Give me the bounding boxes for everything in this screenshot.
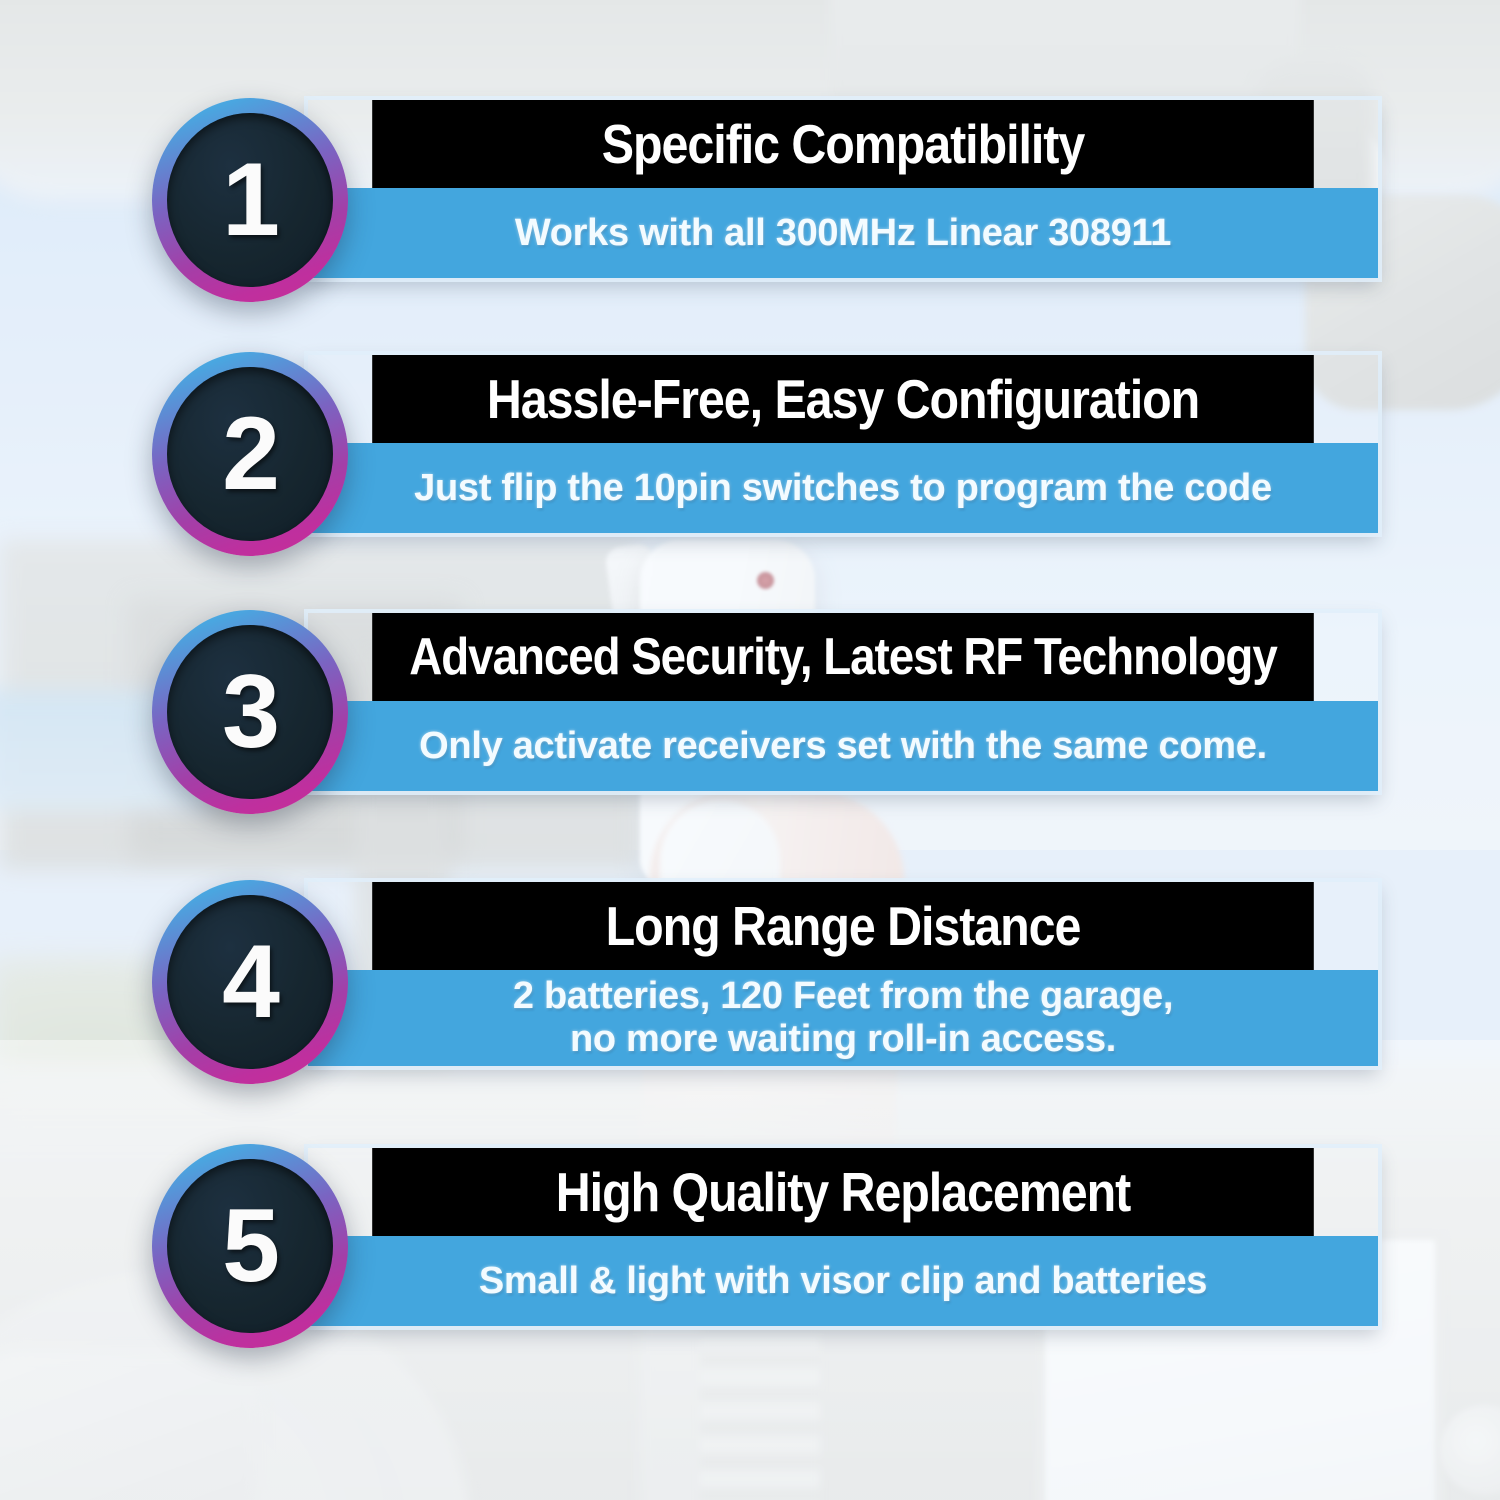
feature-badge-5: 5 — [152, 1144, 348, 1348]
feature-badge-2: 2 — [152, 352, 348, 556]
feature-title-bar-1: Specific Compatibility — [372, 100, 1314, 188]
feature-subtitle-bar-2: Just flip the 10pin switches to program … — [308, 443, 1378, 533]
feature-title-bar-5: High Quality Replacement — [372, 1148, 1314, 1236]
feature-subtitle-bar-3: Only activate receivers set with the sam… — [308, 701, 1378, 791]
infographic-canvas: 1 Specific Compatibility Works with all … — [0, 0, 1500, 1500]
feature-badge-inner-1: 1 — [167, 113, 333, 287]
feature-number-4: 4 — [222, 930, 278, 1034]
feature-list: 1 Specific Compatibility Works with all … — [0, 0, 1500, 1500]
feature-title-1: Specific Compatibility — [602, 112, 1084, 176]
feature-title-bar-4: Long Range Distance — [372, 882, 1314, 970]
feature-title-4: Long Range Distance — [606, 894, 1081, 958]
feature-bars-1: Specific Compatibility Works with all 30… — [308, 100, 1378, 278]
feature-title-bar-2: Hassle-Free, Easy Configuration — [372, 355, 1314, 443]
feature-bars-3: Advanced Security, Latest RF Technology … — [308, 613, 1378, 791]
feature-bars-2: Hassle-Free, Easy Configuration Just fli… — [308, 355, 1378, 533]
feature-subtitle-5: Small & light with visor clip and batter… — [479, 1260, 1207, 1303]
feature-subtitle-3: Only activate receivers set with the sam… — [419, 725, 1267, 768]
feature-title-5: High Quality Replacement — [556, 1160, 1130, 1224]
feature-title-bar-3: Advanced Security, Latest RF Technology — [372, 613, 1314, 701]
feature-badge-1: 1 — [152, 98, 348, 302]
feature-number-1: 1 — [222, 148, 278, 252]
feature-subtitle-bar-1: Works with all 300MHz Linear 308911 — [308, 188, 1378, 278]
feature-bars-4: Long Range Distance 2 batteries, 120 Fee… — [308, 882, 1378, 1066]
feature-badge-inner-2: 2 — [167, 367, 333, 541]
feature-subtitle-4-line-1: 2 batteries, 120 Feet from the garage, — [513, 975, 1173, 1018]
feature-title-2: Hassle-Free, Easy Configuration — [487, 367, 1199, 431]
feature-number-2: 2 — [222, 402, 278, 506]
feature-number-3: 3 — [222, 660, 278, 764]
feature-bars-5: High Quality Replacement Small & light w… — [308, 1148, 1378, 1326]
feature-badge-inner-4: 4 — [167, 895, 333, 1069]
feature-number-5: 5 — [222, 1194, 278, 1298]
feature-subtitle-1: Works with all 300MHz Linear 308911 — [515, 212, 1171, 255]
feature-subtitle-4-line-2: no more waiting roll-in access. — [570, 1018, 1116, 1061]
feature-subtitle-2: Just flip the 10pin switches to program … — [414, 467, 1272, 510]
feature-badge-4: 4 — [152, 880, 348, 1084]
feature-badge-3: 3 — [152, 610, 348, 814]
feature-title-3: Advanced Security, Latest RF Technology — [409, 627, 1276, 687]
feature-subtitle-bar-5: Small & light with visor clip and batter… — [308, 1236, 1378, 1326]
feature-badge-inner-5: 5 — [167, 1159, 333, 1333]
feature-badge-inner-3: 3 — [167, 625, 333, 799]
feature-subtitle-bar-4: 2 batteries, 120 Feet from the garage, n… — [308, 970, 1378, 1066]
